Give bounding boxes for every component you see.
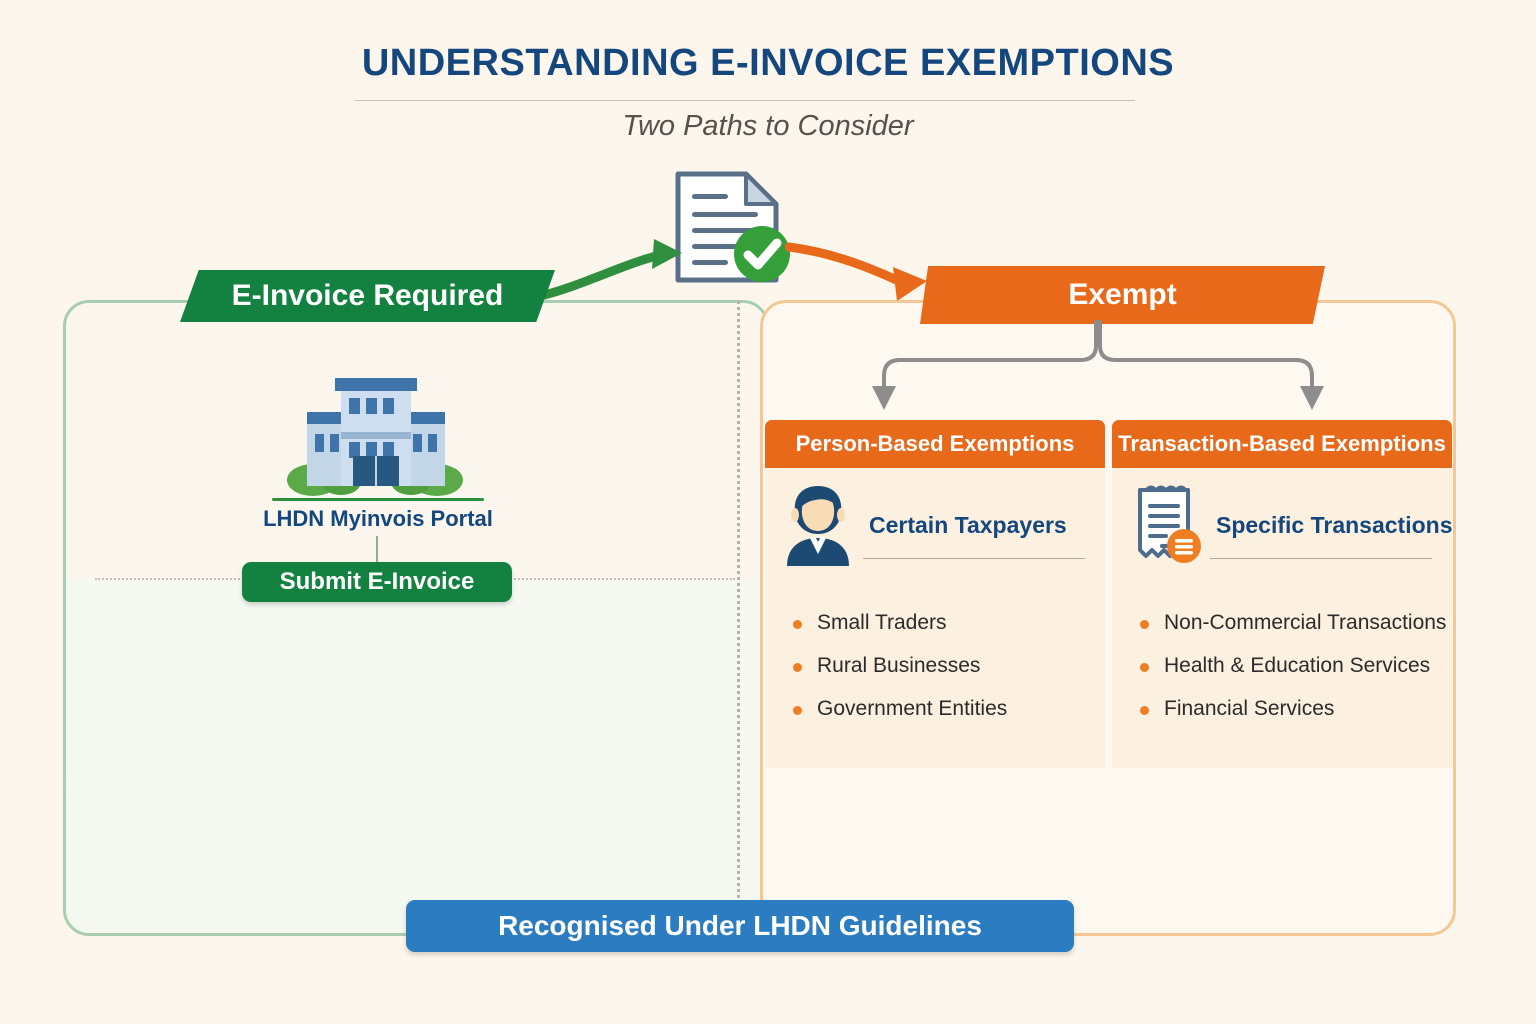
receipt-icon (1126, 480, 1204, 571)
card-body: Specific Transactions Non-Commercial Tra… (1112, 468, 1452, 768)
title-divider (355, 100, 1135, 101)
banner-exempt[interactable]: Exempt (920, 266, 1325, 324)
card-body: Certain Taxpayers Small Traders Rural Bu… (765, 468, 1105, 768)
card-rule (863, 558, 1085, 559)
vertical-divider (737, 300, 740, 930)
submit-e-invoice-button[interactable]: Submit E-Invoice (242, 562, 512, 602)
card-header-label: Person-Based Exemptions (765, 420, 1105, 468)
branch-arrows (848, 320, 1348, 425)
portal-label: LHDN Myinvois Portal (230, 506, 526, 532)
page-subtitle: Two Paths to Consider (0, 110, 1536, 143)
list-item: Small Traders (791, 611, 1105, 635)
card-person-based-exemptions: Person-Based Exemptions Certain Taxpayer… (765, 420, 1105, 768)
bullet-list: Small Traders Rural Businesses Governmen… (765, 571, 1105, 721)
card-transaction-based-exemptions: Transaction-Based Exemptions (1112, 420, 1452, 768)
bullet-list: Non-Commercial Transactions Health & Edu… (1112, 571, 1452, 721)
ground-line (272, 498, 484, 501)
banner-e-invoice-required[interactable]: E-Invoice Required (180, 270, 555, 322)
list-item: Government Entities (791, 697, 1105, 721)
card-subtitle: Specific Transactions (1216, 512, 1452, 539)
green-flow-arrow-icon (530, 225, 700, 310)
card-rule (1210, 558, 1432, 559)
infographic-canvas: UNDERSTANDING E-INVOICE EXEMPTIONS Two P… (0, 0, 1536, 1024)
person-avatar-icon (779, 480, 857, 571)
list-item: Financial Services (1138, 697, 1452, 721)
card-header-label: Transaction-Based Exemptions (1112, 420, 1452, 468)
list-item: Rural Businesses (791, 654, 1105, 678)
list-item: Health & Education Services (1138, 654, 1452, 678)
list-item: Non-Commercial Transactions (1138, 611, 1452, 635)
page-title: UNDERSTANDING E-INVOICE EXEMPTIONS (0, 42, 1536, 85)
check-circle-icon (734, 226, 790, 282)
orange-flow-arrow-icon (785, 235, 945, 320)
portal-connector-line (376, 536, 378, 562)
footer-banner[interactable]: Recognised Under LHDN Guidelines (406, 900, 1074, 952)
card-subtitle: Certain Taxpayers (869, 512, 1067, 539)
government-building-icon (285, 372, 467, 498)
